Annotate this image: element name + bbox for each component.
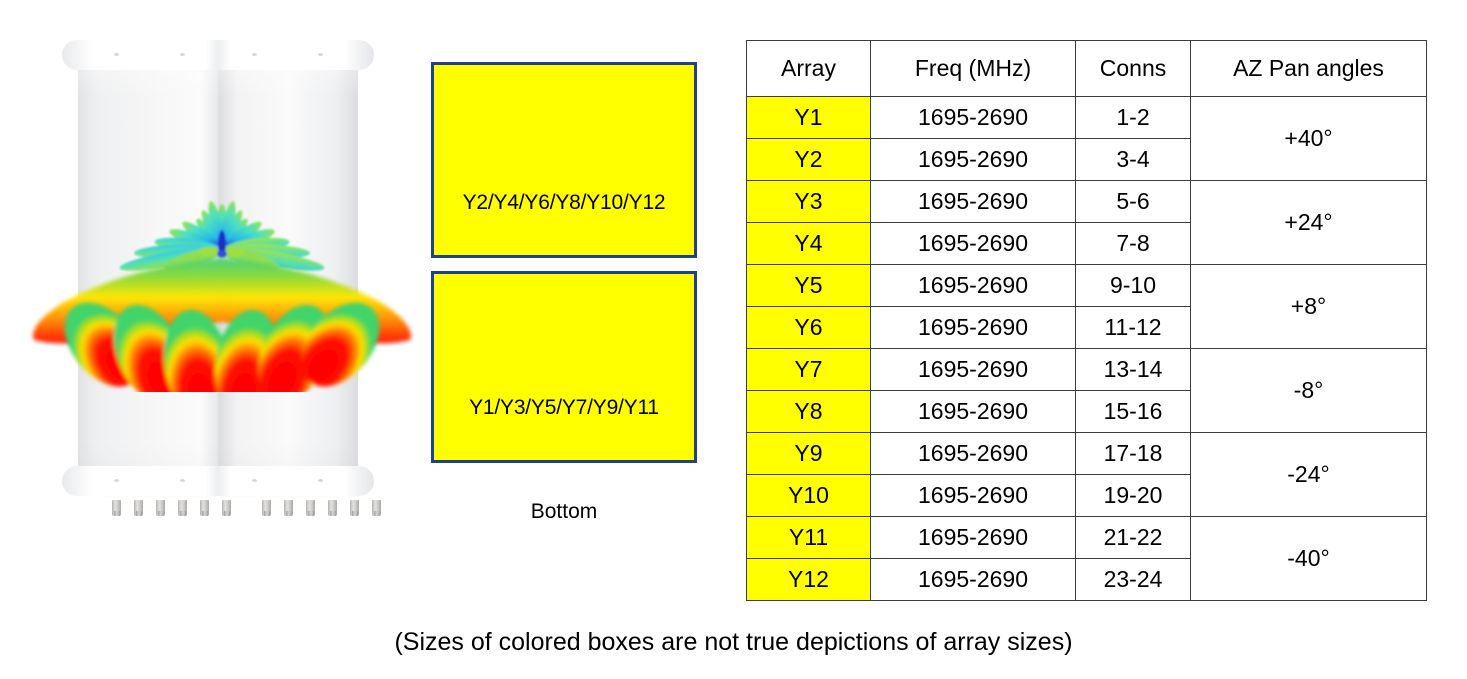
cell-az-pan-angle: -8°: [1191, 349, 1427, 433]
rf-connector-icon: [200, 500, 209, 516]
table-row: Y31695-26905-6+24°: [747, 181, 1427, 223]
rf-connector-icon: [328, 500, 337, 516]
cell-array-name: Y5: [747, 265, 871, 307]
rf-connector-icon: [156, 500, 165, 516]
cell-connectors: 11-12: [1076, 307, 1191, 349]
cell-array-name: Y11: [747, 517, 871, 559]
antenna-top-cap: [62, 40, 374, 70]
cell-connectors: 13-14: [1076, 349, 1191, 391]
rf-connector-icon: [222, 500, 231, 516]
cell-array-name: Y6: [747, 307, 871, 349]
bottom-caption-label: Bottom: [431, 500, 697, 524]
cell-az-pan-angle: +24°: [1191, 181, 1427, 265]
table-row: Y51695-26909-10+8°: [747, 265, 1427, 307]
rf-connector-icon: [178, 500, 187, 516]
cell-connectors: 5-6: [1076, 181, 1191, 223]
cell-frequency: 1695-2690: [871, 349, 1076, 391]
table-row: Y11695-26901-2+40°: [747, 97, 1427, 139]
cell-array-name: Y2: [747, 139, 871, 181]
cell-connectors: 1-2: [1076, 97, 1191, 139]
cell-connectors: 19-20: [1076, 475, 1191, 517]
array-box-bottom-label: Y1/Y3/Y5/Y7/Y9/Y11: [469, 396, 659, 460]
cap-screw-icon: [318, 479, 323, 482]
cell-connectors: 15-16: [1076, 391, 1191, 433]
table-row: Y111695-269021-22-40°: [747, 517, 1427, 559]
cell-az-pan-angle: -24°: [1191, 433, 1427, 517]
figure-footnote: (Sizes of colored boxes are not true dep…: [0, 628, 1467, 657]
cap-screw-icon: [114, 53, 119, 56]
cap-screw-icon: [252, 479, 257, 482]
cell-frequency: 1695-2690: [871, 97, 1076, 139]
rf-connector-icon: [134, 500, 143, 516]
table-row: Y91695-269017-18-24°: [747, 433, 1427, 475]
array-configuration-table: Array Freq (MHz) Conns AZ Pan angles Y11…: [746, 40, 1427, 601]
table-header-row: Array Freq (MHz) Conns AZ Pan angles: [747, 41, 1427, 97]
column-header-array: Array: [747, 41, 871, 97]
cell-connectors: 7-8: [1076, 223, 1191, 265]
antenna-figure: [22, 22, 422, 542]
cell-array-name: Y3: [747, 181, 871, 223]
cap-screw-icon: [252, 53, 257, 56]
rf-connector-icon: [372, 500, 381, 516]
cell-frequency: 1695-2690: [871, 391, 1076, 433]
rf-connector-icon: [306, 500, 315, 516]
cap-screw-icon: [180, 479, 185, 482]
cell-array-name: Y10: [747, 475, 871, 517]
column-header-freq: Freq (MHz): [871, 41, 1076, 97]
cell-frequency: 1695-2690: [871, 223, 1076, 265]
cap-screw-icon: [318, 53, 323, 56]
cell-az-pan-angle: -40°: [1191, 517, 1427, 601]
cell-frequency: 1695-2690: [871, 517, 1076, 559]
antenna-radome: [78, 44, 358, 496]
cell-array-name: Y12: [747, 559, 871, 601]
rf-connector-icon: [284, 500, 293, 516]
cell-connectors: 3-4: [1076, 139, 1191, 181]
cell-az-pan-angle: +40°: [1191, 97, 1427, 181]
cell-array-name: Y4: [747, 223, 871, 265]
cell-frequency: 1695-2690: [871, 433, 1076, 475]
array-box-top-label: Y2/Y4/Y6/Y8/Y10/Y12: [463, 191, 666, 255]
array-box-bottom: Y1/Y3/Y5/Y7/Y9/Y11: [431, 271, 697, 463]
array-table-body: Y11695-26901-2+40°Y21695-26903-4Y31695-2…: [747, 97, 1427, 601]
rf-connector-icon: [350, 500, 359, 516]
cell-frequency: 1695-2690: [871, 181, 1076, 223]
column-header-conns: Conns: [1076, 41, 1191, 97]
cell-array-name: Y7: [747, 349, 871, 391]
cell-array-name: Y8: [747, 391, 871, 433]
cell-frequency: 1695-2690: [871, 475, 1076, 517]
cell-frequency: 1695-2690: [871, 307, 1076, 349]
rf-connector-icon: [262, 500, 271, 516]
cell-array-name: Y9: [747, 433, 871, 475]
cell-az-pan-angle: +8°: [1191, 265, 1427, 349]
antenna-bottom-cap: [62, 466, 374, 496]
cell-frequency: 1695-2690: [871, 265, 1076, 307]
cell-connectors: 17-18: [1076, 433, 1191, 475]
column-header-az: AZ Pan angles: [1191, 41, 1427, 97]
cell-connectors: 23-24: [1076, 559, 1191, 601]
cap-screw-icon: [114, 479, 119, 482]
cell-connectors: 9-10: [1076, 265, 1191, 307]
cap-screw-icon: [180, 53, 185, 56]
cell-connectors: 21-22: [1076, 517, 1191, 559]
cell-frequency: 1695-2690: [871, 139, 1076, 181]
rf-connector-icon: [112, 500, 121, 516]
cell-frequency: 1695-2690: [871, 559, 1076, 601]
table-row: Y71695-269013-14-8°: [747, 349, 1427, 391]
cell-array-name: Y1: [747, 97, 871, 139]
array-box-top: Y2/Y4/Y6/Y8/Y10/Y12: [431, 62, 697, 258]
